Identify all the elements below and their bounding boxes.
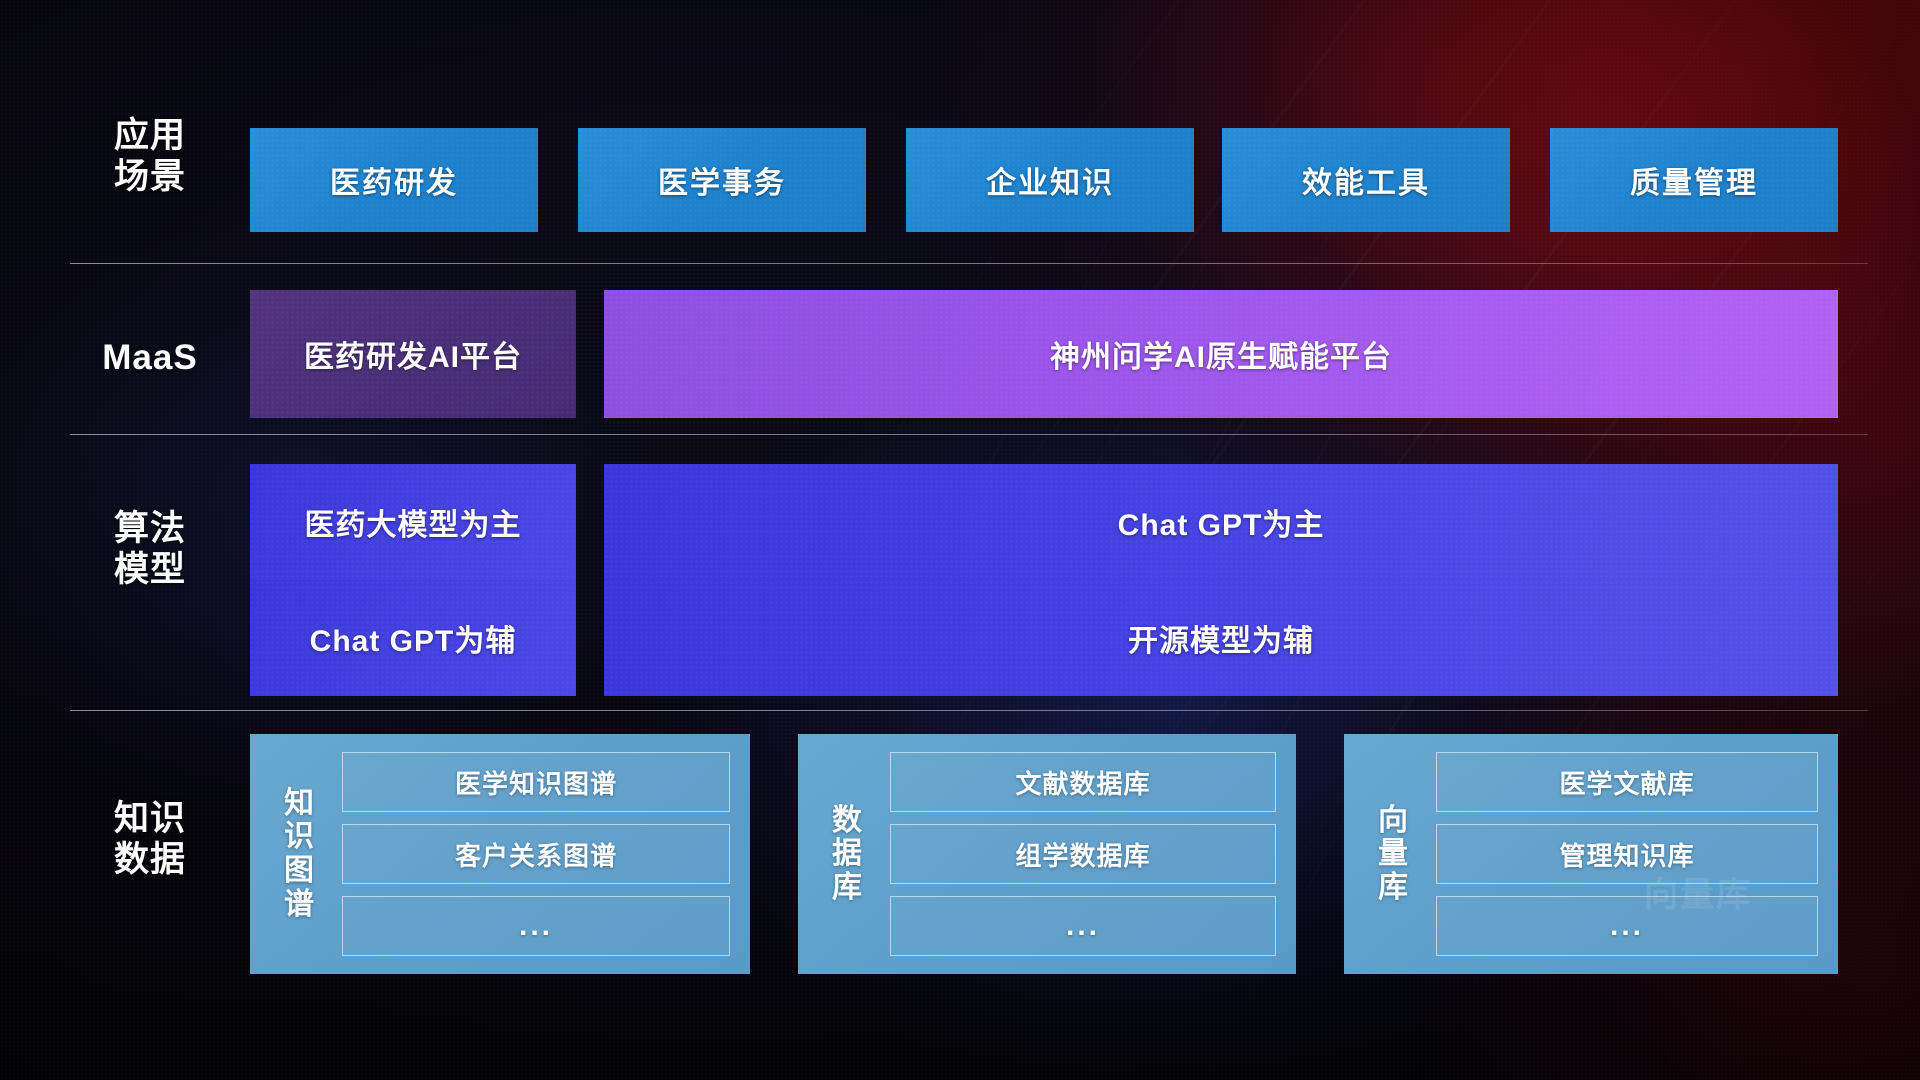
app-scenario-label-2: 医学事务	[658, 158, 786, 202]
knowledge-group-1-items: 医学知识图谱 客户关系图谱 ...	[338, 744, 738, 964]
knowledge-item-more-3[interactable]: ...	[1436, 896, 1818, 956]
row-label-algorithm-models: 算法 模型	[70, 508, 230, 591]
app-scenario-label-5: 质量管理	[1630, 158, 1758, 202]
app-scenario-box-3[interactable]: 企业知识	[906, 128, 1194, 232]
algo-label-secondary-open-source: 开源模型为辅	[1128, 616, 1314, 660]
divider-after-application-scenarios	[70, 263, 1868, 264]
app-scenario-label-3: 企业知识	[986, 158, 1114, 202]
knowledge-group-database[interactable]: 数 据 库 文献数据库 组学数据库 ...	[798, 734, 1296, 974]
knowledge-item-omics-database[interactable]: 组学数据库	[890, 824, 1276, 884]
knowledge-group-2-vertical-label: 数 据 库	[808, 804, 886, 905]
app-scenario-box-4[interactable]: 效能工具	[1222, 128, 1510, 232]
algo-label-secondary-chatgpt: Chat GPT为辅	[310, 616, 517, 660]
knowledge-item-management-knowledge-store[interactable]: 管理知识库	[1436, 824, 1818, 884]
divider-after-maas	[70, 434, 1868, 435]
maas-box-enablement-platform[interactable]: 神州问学AI原生赋能平台	[604, 290, 1838, 418]
divider-after-algorithm-models	[70, 710, 1868, 711]
knowledge-group-knowledge-graph[interactable]: 知 识 图 谱 医学知识图谱 客户关系图谱 ...	[250, 734, 750, 974]
knowledge-group-2-items: 文献数据库 组学数据库 ...	[886, 744, 1284, 964]
algo-box-secondary-open-source[interactable]: 开源模型为辅	[604, 580, 1838, 696]
knowledge-item-more-2[interactable]: ...	[890, 896, 1276, 956]
algo-box-primary-chatgpt[interactable]: Chat GPT为主	[604, 464, 1838, 580]
app-scenario-label-1: 医药研发	[330, 158, 458, 202]
knowledge-group-1-vertical-label: 知 识 图 谱	[260, 787, 338, 921]
app-scenario-box-1[interactable]: 医药研发	[250, 128, 538, 232]
algo-label-primary-medical-llm: 医药大模型为主	[305, 500, 522, 544]
maas-label-platform: 医药研发AI平台	[304, 332, 522, 376]
app-scenario-label-4: 效能工具	[1302, 158, 1430, 202]
knowledge-item-medical-knowledge-graph[interactable]: 医学知识图谱	[342, 752, 730, 812]
maas-label-enablement-platform: 神州问学AI原生赋能平台	[1050, 332, 1392, 376]
knowledge-item-customer-relation-graph[interactable]: 客户关系图谱	[342, 824, 730, 884]
row-label-maas: MaaS	[70, 337, 230, 378]
knowledge-item-medical-literature-store[interactable]: 医学文献库	[1436, 752, 1818, 812]
slide-canvas: 应用 场景 医药研发 医学事务 企业知识 效能工具 质量管理 MaaS 医药研发…	[0, 0, 1920, 1080]
app-scenario-box-2[interactable]: 医学事务	[578, 128, 866, 232]
app-scenario-box-5[interactable]: 质量管理	[1550, 128, 1838, 232]
algo-label-primary-chatgpt: Chat GPT为主	[1118, 500, 1325, 544]
algo-box-primary-medical-llm[interactable]: 医药大模型为主	[250, 464, 576, 580]
maas-box-platform[interactable]: 医药研发AI平台	[250, 290, 576, 418]
row-label-application-scenarios: 应用 场景	[70, 115, 230, 198]
knowledge-group-vector-store[interactable]: 向量库 向 量 库 医学文献库 管理知识库 ...	[1344, 734, 1838, 974]
algo-box-secondary-chatgpt[interactable]: Chat GPT为辅	[250, 580, 576, 696]
knowledge-item-more-1[interactable]: ...	[342, 896, 730, 956]
knowledge-group-3-vertical-label: 向 量 库	[1354, 804, 1432, 905]
knowledge-group-3-items: 医学文献库 管理知识库 ...	[1432, 744, 1826, 964]
row-label-knowledge-data: 知识 数据	[70, 798, 230, 881]
knowledge-item-literature-database[interactable]: 文献数据库	[890, 752, 1276, 812]
